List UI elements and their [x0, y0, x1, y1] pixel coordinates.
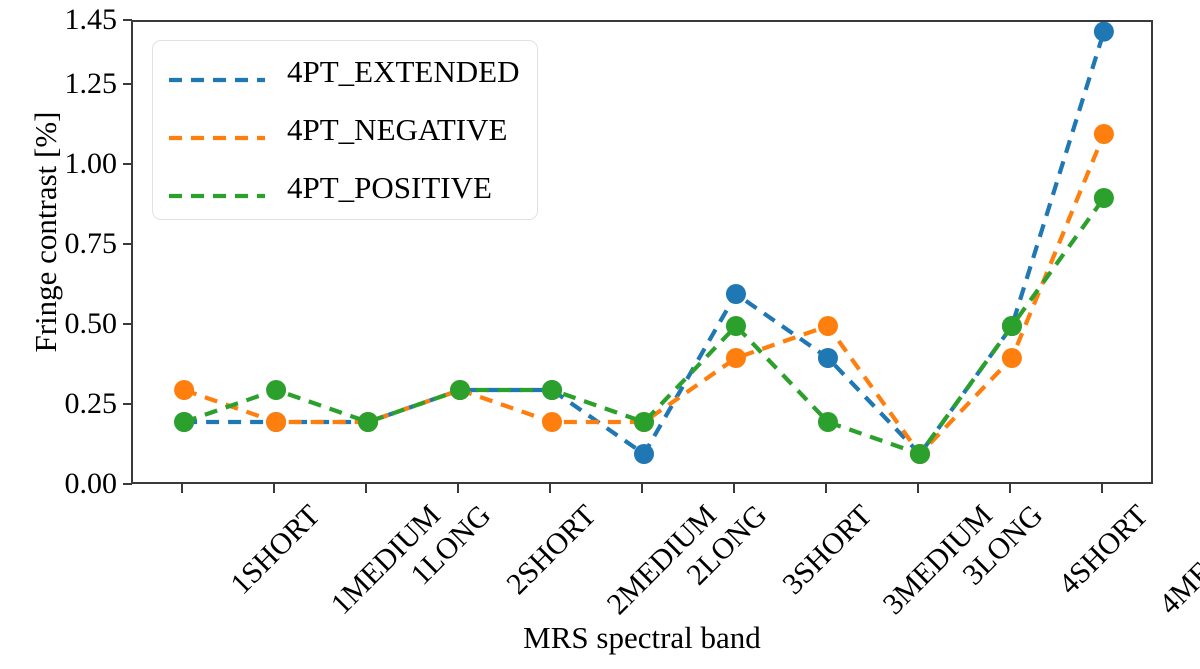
x-tick-mark — [917, 484, 919, 493]
y-tick-mark — [123, 243, 132, 245]
data-point-marker — [1094, 22, 1114, 42]
data-point-marker — [634, 412, 654, 432]
x-tick-mark — [825, 484, 827, 493]
y-tick-mark — [123, 19, 132, 21]
x-tick-label: 4SHORT — [1054, 500, 1154, 600]
legend-item: 4PT_EXTENDED — [169, 53, 519, 91]
data-point-marker — [726, 316, 746, 336]
x-tick-label: 1SHORT — [226, 500, 326, 600]
data-point-marker — [266, 380, 286, 400]
y-tick-mark — [123, 163, 132, 165]
data-point-marker — [1094, 188, 1114, 208]
data-point-marker — [542, 380, 562, 400]
y-axis-tick-labels: 0.000.250.500.751.001.251.45 — [0, 0, 117, 669]
data-point-marker — [358, 412, 378, 432]
x-tick-mark — [549, 484, 551, 493]
y-tick-label: 0.00 — [65, 469, 118, 499]
data-point-marker — [818, 348, 838, 368]
legend-item: 4PT_POSITIVE — [169, 169, 519, 207]
legend-item: 4PT_NEGATIVE — [169, 111, 519, 149]
x-tick-label: 2SHORT — [502, 500, 602, 600]
y-tick-label: 1.45 — [65, 5, 118, 35]
data-point-marker — [542, 412, 562, 432]
data-point-marker — [266, 412, 286, 432]
y-tick-label: 1.00 — [65, 149, 118, 179]
chart-figure: Fringe contrast [%] 0.000.250.500.751.00… — [0, 0, 1200, 669]
x-tick-label: 4MEDIUM — [1154, 500, 1200, 620]
legend-label: 4PT_POSITIVE — [287, 170, 492, 206]
x-tick-mark — [457, 484, 459, 493]
y-tick-label: 0.50 — [65, 309, 118, 339]
x-tick-mark — [641, 484, 643, 493]
y-tick-mark — [123, 323, 132, 325]
y-tick-label: 0.25 — [65, 389, 118, 419]
data-point-marker — [1094, 124, 1114, 144]
chart-legend: 4PT_EXTENDED4PT_NEGATIVE4PT_POSITIVE — [152, 40, 538, 220]
data-point-marker — [450, 380, 470, 400]
data-point-marker — [910, 444, 930, 464]
data-point-marker — [1002, 348, 1022, 368]
x-tick-mark — [181, 484, 183, 493]
legend-line-swatch — [169, 70, 265, 75]
data-point-marker — [726, 284, 746, 304]
x-tick-mark — [365, 484, 367, 493]
y-tick-label: 1.25 — [65, 69, 118, 99]
data-point-marker — [818, 316, 838, 336]
legend-line-swatch — [169, 128, 265, 133]
legend-label: 4PT_EXTENDED — [287, 54, 519, 90]
data-point-marker — [174, 380, 194, 400]
data-point-marker — [726, 348, 746, 368]
x-tick-mark — [733, 484, 735, 493]
x-tick-label: 3SHORT — [778, 500, 878, 600]
y-tick-mark — [123, 83, 132, 85]
data-point-marker — [1002, 316, 1022, 336]
legend-label: 4PT_NEGATIVE — [287, 112, 507, 148]
x-tick-mark — [1009, 484, 1011, 493]
x-tick-mark — [1101, 484, 1103, 493]
data-point-marker — [818, 412, 838, 432]
legend-line-swatch — [169, 186, 265, 191]
y-tick-mark — [123, 483, 132, 485]
y-tick-label: 0.75 — [65, 229, 118, 259]
x-axis-title: MRS spectral band — [131, 620, 1153, 656]
x-tick-mark — [273, 484, 275, 493]
data-point-marker — [174, 412, 194, 432]
y-tick-mark — [123, 403, 132, 405]
data-point-marker — [634, 444, 654, 464]
